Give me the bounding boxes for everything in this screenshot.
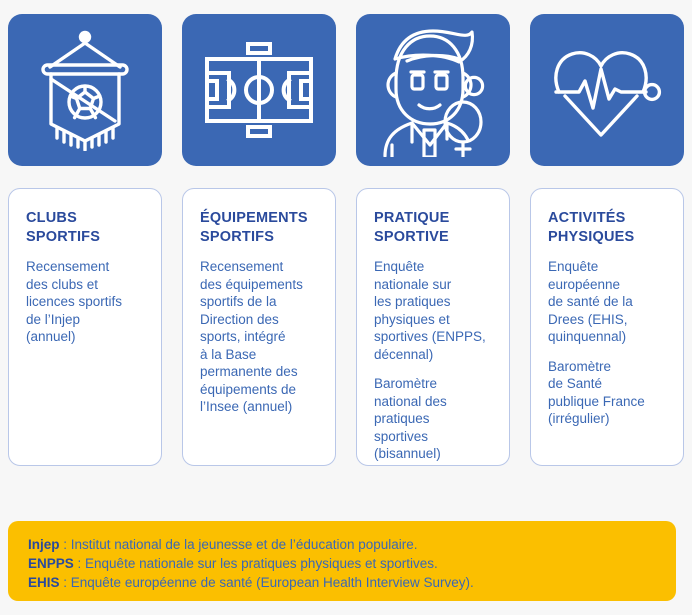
icon-tile-clubs-sportifs (8, 14, 162, 166)
card-paragraph: Enquête européenne de santé de la Drees … (548, 258, 666, 346)
card-title: ÉQUIPEMENTS SPORTIFS (200, 209, 318, 247)
acronym-legend-box: Injep : Institut national de la jeunesse… (8, 521, 676, 601)
info-card-pratique-sportive: PRATIQUE SPORTIVE Enquête nationale sur … (356, 188, 510, 466)
card-title: PRATIQUE SPORTIVE (374, 209, 492, 247)
legend-line-injep: Injep : Institut national de la jeunesse… (28, 535, 656, 554)
card-paragraph: Recensement des équipements sportifs de … (200, 258, 318, 416)
infographic-page: CLUBS SPORTIFS Recensement des clubs et … (0, 0, 692, 615)
icon-tile-row (8, 14, 684, 166)
icon-tile-pratique-sportive (356, 14, 510, 166)
icon-tile-activites-physiques (530, 14, 684, 166)
icon-tile-equipements-sportifs (182, 14, 336, 166)
info-card-activites-physiques: ACTIVITÉS PHYSIQUES Enquête européenne d… (530, 188, 684, 466)
legend-abbreviation: EHIS (28, 575, 60, 590)
card-paragraph: Recensement des clubs et licences sporti… (26, 258, 144, 346)
info-card-row: CLUBS SPORTIFS Recensement des clubs et … (8, 188, 684, 466)
card-title: ACTIVITÉS PHYSIQUES (548, 209, 666, 247)
pennant-soccer-ball-icon (37, 29, 133, 151)
legend-abbreviation: ENPPS (28, 556, 74, 571)
info-card-equipements-sportifs: ÉQUIPEMENTS SPORTIFS Recensement des équ… (182, 188, 336, 466)
legend-definition: : Institut national de la jeunesse et de… (60, 537, 418, 552)
legend-definition: : Enquête nationale sur les pratiques ph… (74, 556, 438, 571)
card-title: CLUBS SPORTIFS (26, 209, 144, 247)
heart-pulse-icon (551, 43, 663, 137)
legend-definition: : Enquête européenne de santé (European … (60, 575, 474, 590)
card-paragraph: Baromètre national des pratiques sportiv… (374, 375, 492, 463)
legend-abbreviation: Injep (28, 537, 60, 552)
person-with-table-tennis-paddle-icon (371, 23, 495, 157)
legend-line-ehis: EHIS : Enquête européenne de santé (Euro… (28, 573, 656, 592)
soccer-field-icon (198, 35, 320, 145)
legend-line-enpps: ENPPS : Enquête nationale sur les pratiq… (28, 554, 656, 573)
info-card-clubs-sportifs: CLUBS SPORTIFS Recensement des clubs et … (8, 188, 162, 466)
card-paragraph: Enquête nationale sur les pratiques phys… (374, 258, 492, 363)
card-paragraph: Baromètre de Santé publique France (irré… (548, 358, 666, 428)
